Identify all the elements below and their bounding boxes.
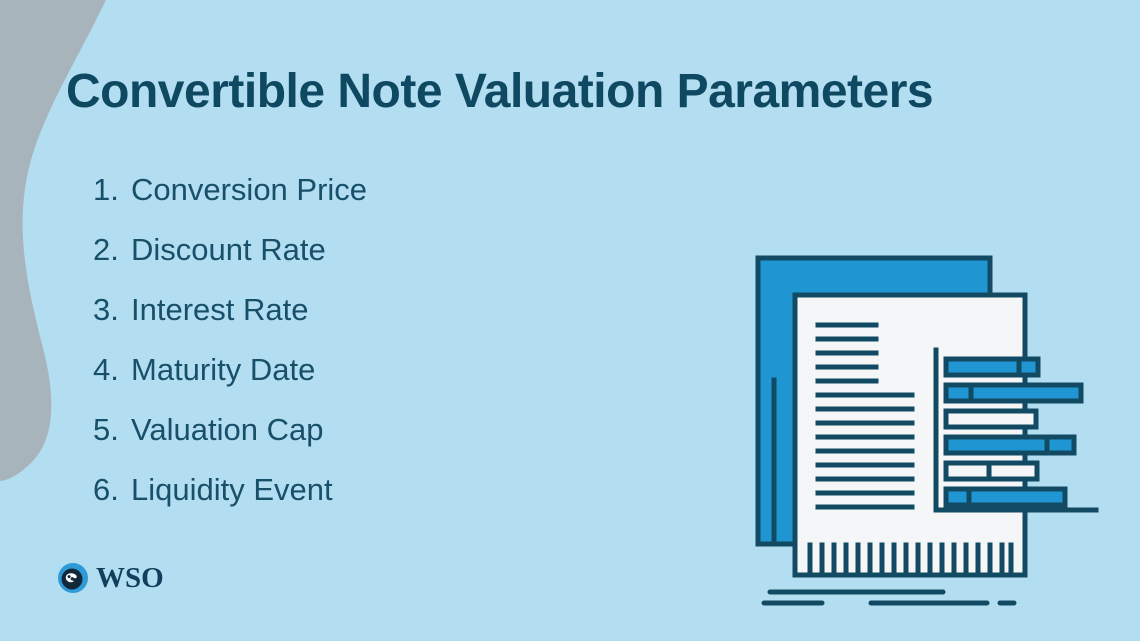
- wso-globe-icon: [57, 562, 89, 594]
- list-item-number: 2.: [93, 232, 131, 268]
- page-title: Convertible Note Valuation Parameters: [66, 66, 933, 119]
- list-item: 1. Conversion Price: [93, 172, 613, 232]
- list-item-label: Conversion Price: [131, 172, 367, 208]
- list-item: 2. Discount Rate: [93, 232, 613, 292]
- list-item-number: 3.: [93, 292, 131, 328]
- parameters-list: 1. Conversion Price 2. Discount Rate 3. …: [93, 172, 613, 532]
- brand-logo: WSO: [57, 562, 164, 594]
- list-item-label: Valuation Cap: [131, 412, 323, 448]
- list-item-label: Interest Rate: [131, 292, 308, 328]
- list-item-number: 1.: [93, 172, 131, 208]
- list-item-number: 5.: [93, 412, 131, 448]
- list-item-label: Discount Rate: [131, 232, 326, 268]
- list-item: 5. Valuation Cap: [93, 412, 613, 472]
- list-item-number: 4.: [93, 352, 131, 388]
- list-item: 6. Liquidity Event: [93, 472, 613, 532]
- ground-lines: [764, 592, 1014, 603]
- slide-canvas: Convertible Note Valuation Parameters 1.…: [0, 0, 1140, 641]
- list-item-number: 6.: [93, 472, 131, 508]
- list-item: 4. Maturity Date: [93, 352, 613, 412]
- list-item-label: Maturity Date: [131, 352, 315, 388]
- wso-wordmark: WSO: [96, 564, 164, 593]
- list-item-label: Liquidity Event: [131, 472, 333, 508]
- documents-illustration: [740, 240, 1140, 640]
- list-item: 3. Interest Rate: [93, 292, 613, 352]
